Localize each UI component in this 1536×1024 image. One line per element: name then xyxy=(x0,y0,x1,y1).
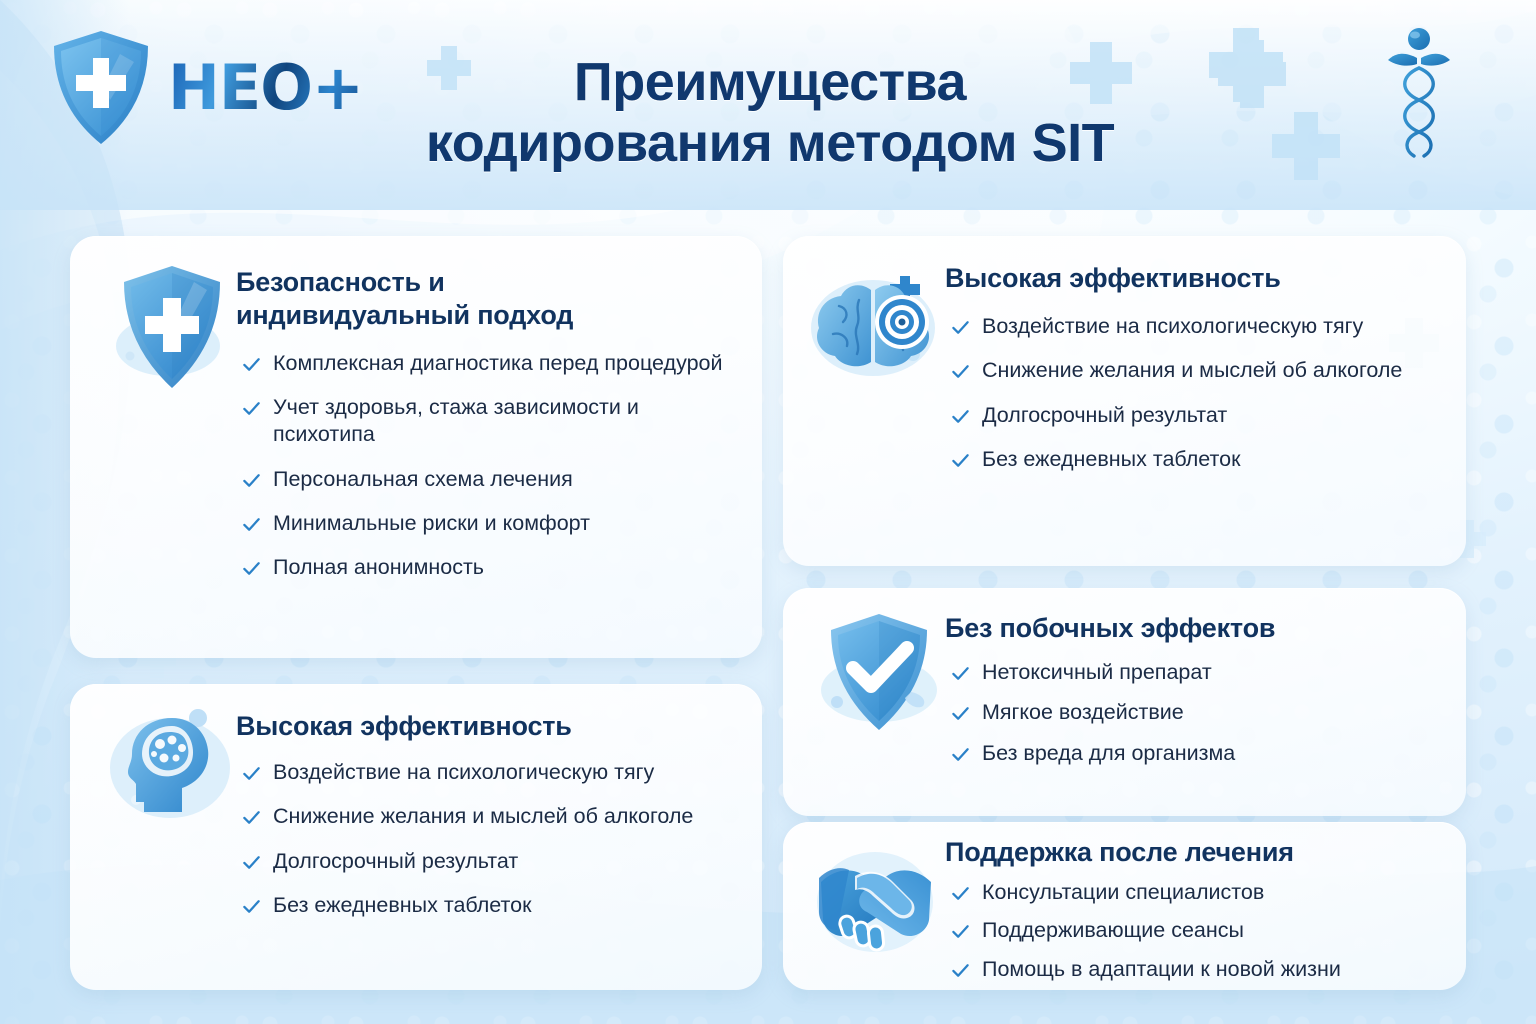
card-high-efficiency-left: Высокая эффективность Воздействие на пси… xyxy=(70,684,762,990)
caduceus-icon xyxy=(1388,22,1450,172)
bullet-item: Долгосрочный результат xyxy=(242,848,746,875)
bullet-text: Мягкое воздействие xyxy=(982,699,1450,726)
bullet-item: Поддерживающие сеансы xyxy=(951,917,1450,944)
check-icon xyxy=(242,808,261,827)
bullet-item: Учет здоровья, стажа зависимости и психо… xyxy=(242,394,736,449)
bullet-item: Без ежедневных таблеток xyxy=(951,446,1450,473)
card-bullet-list: Комплексная диагностика перед процедурой… xyxy=(236,350,736,582)
bullet-text: Помощь в адаптации к новой жизни xyxy=(982,956,1450,983)
bullet-item: Мягкое воздействие xyxy=(951,699,1450,726)
bullet-text: Комплексная диагностика перед процедурой xyxy=(273,350,736,377)
check-icon xyxy=(242,559,261,578)
card-bullet-list: Воздействие на психологическую тягу Сниж… xyxy=(945,313,1450,473)
card-icon-brain-target xyxy=(805,254,945,394)
infographic-poster: НЕО+ Преимущества кодирования методом SI… xyxy=(0,0,1536,1024)
poster-header: НЕО+ Преимущества кодирования методом SI… xyxy=(0,0,1536,212)
card-safety: Безопасность и индивидуальный подход Ком… xyxy=(70,236,762,658)
card-high-efficiency-right: Высокая эффективность Воздействие на пси… xyxy=(783,236,1466,566)
bullet-item: Без ежедневных таблеток xyxy=(242,892,746,919)
bullet-item: Снижение желания и мыслей об алкоголе xyxy=(242,803,746,830)
card-no-side-effects: Без побочных эффектов Нетоксичный препар… xyxy=(783,588,1466,816)
bullet-text: Долгосрочный результат xyxy=(982,402,1450,429)
bullet-text: Учет здоровья, стажа зависимости и психо… xyxy=(273,394,736,449)
check-icon xyxy=(951,745,970,764)
bullet-text: Консультации специалистов xyxy=(982,879,1450,906)
check-icon xyxy=(242,897,261,916)
check-icon xyxy=(951,664,970,683)
check-icon xyxy=(242,515,261,534)
card-title: Безопасность и индивидуальный подход xyxy=(236,266,666,332)
page-title-line-1: Преимущества xyxy=(330,52,1210,113)
card-bullet-list: Воздействие на психологическую тягу Сниж… xyxy=(236,759,746,919)
card-icon-shield-cross xyxy=(108,260,236,400)
bullet-item: Воздействие на психологическую тягу xyxy=(951,313,1450,340)
bullet-text: Поддерживающие сеансы xyxy=(982,917,1450,944)
bullet-text: Долгосрочный результат xyxy=(273,848,746,875)
check-icon xyxy=(242,399,261,418)
bullet-text: Воздействие на психологическую тягу xyxy=(982,313,1450,340)
check-icon xyxy=(242,471,261,490)
bullet-item: Долгосрочный результат xyxy=(951,402,1450,429)
bullet-text: Минимальные риски и комфорт xyxy=(273,510,736,537)
page-title-line-2: кодирования методом SIT xyxy=(330,113,1210,174)
card-icon-shield-check xyxy=(815,606,945,736)
bullet-item: Полная анонимность xyxy=(242,554,736,581)
page-title: Преимущества кодирования методом SIT xyxy=(330,52,1210,174)
card-title: Поддержка после лечения xyxy=(945,836,1450,869)
check-icon xyxy=(951,884,970,903)
bullet-text: Полная анонимность xyxy=(273,554,736,581)
bullet-text: Нетоксичный препарат xyxy=(982,659,1450,686)
card-bullet-list: Консультации специалистов Поддерживающие… xyxy=(945,879,1450,983)
check-icon xyxy=(951,362,970,381)
bullet-text: Без ежедневных таблеток xyxy=(982,446,1450,473)
bullet-text: Воздействие на психологическую тягу xyxy=(273,759,746,786)
bullet-text: Снижение желания и мыслей об алкоголе xyxy=(273,803,746,830)
card-title: Без побочных эффектов xyxy=(945,612,1450,645)
check-icon xyxy=(951,961,970,980)
card-bullet-list: Нетоксичный препарат Мягкое воздействие … xyxy=(945,659,1450,767)
check-icon xyxy=(951,407,970,426)
check-icon xyxy=(951,318,970,337)
check-icon xyxy=(951,922,970,941)
bullet-item: Помощь в адаптации к новой жизни xyxy=(951,956,1450,983)
bullet-item: Комплексная диагностика перед процедурой xyxy=(242,350,736,377)
card-icon-head-brain xyxy=(106,702,236,830)
card-post-treatment-support: Поддержка после лечения Консультации спе… xyxy=(783,822,1466,990)
check-icon xyxy=(242,764,261,783)
card-title: Высокая эффективность xyxy=(236,710,746,743)
bullet-item: Персональная схема лечения xyxy=(242,466,736,493)
bullet-item: Нетоксичный препарат xyxy=(951,659,1450,686)
check-icon xyxy=(242,355,261,374)
bullet-item: Снижение желания и мыслей об алкоголе xyxy=(951,357,1450,384)
check-icon xyxy=(242,853,261,872)
bullet-item: Без вреда для организма xyxy=(951,740,1450,767)
card-title: Высокая эффективность xyxy=(945,262,1450,295)
bullet-text: Без ежедневных таблеток xyxy=(273,892,746,919)
brand-logo: НЕО+ xyxy=(48,28,363,148)
card-icon-handshake xyxy=(811,838,941,964)
check-icon xyxy=(951,451,970,470)
bullet-text: Персональная схема лечения xyxy=(273,466,736,493)
bullet-item: Воздействие на психологическую тягу xyxy=(242,759,746,786)
bullet-item: Консультации специалистов xyxy=(951,879,1450,906)
bullet-text: Без вреда для организма xyxy=(982,740,1450,767)
check-icon xyxy=(951,704,970,723)
shield-cross-icon xyxy=(48,28,154,148)
bullet-item: Минимальные риски и комфорт xyxy=(242,510,736,537)
bullet-text: Снижение желания и мыслей об алкоголе xyxy=(982,357,1450,384)
